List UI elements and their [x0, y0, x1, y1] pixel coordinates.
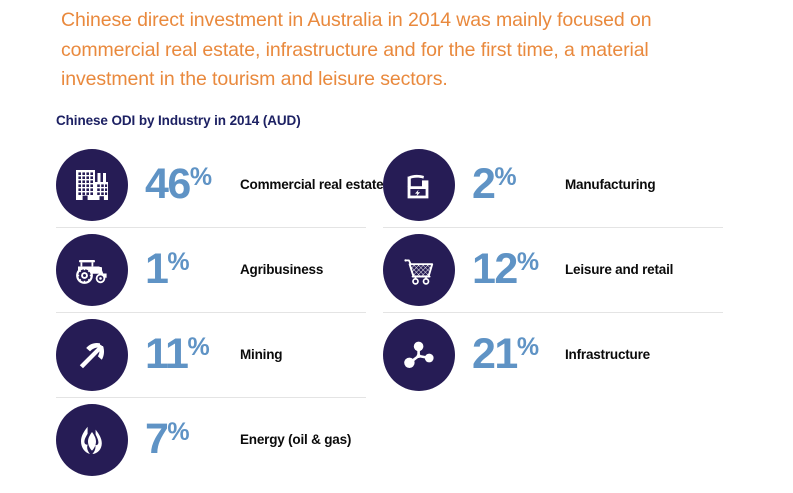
- list-item: 46 % Commercial real estate: [56, 142, 366, 227]
- industry-label-wrap: Agribusiness: [240, 261, 390, 279]
- list-item: 1 % Agribusiness: [56, 227, 366, 312]
- status-badge: 46 %: [145, 163, 212, 206]
- list-item: 11 % Mining: [56, 312, 366, 397]
- status-badge: 11 %: [145, 333, 209, 376]
- percent-number: 7: [145, 418, 167, 461]
- percent-number: 2: [472, 163, 494, 206]
- status-badge: 21 %: [472, 333, 539, 376]
- list-item: 21 % Infrastructure: [383, 312, 723, 397]
- status-badge: 2 %: [472, 163, 516, 206]
- percent-number: 1: [145, 248, 167, 291]
- pickaxe-icon: [56, 319, 128, 391]
- percent-value-wrap: 11 %: [136, 319, 209, 391]
- percent-sign: %: [167, 248, 189, 275]
- industry-label-wrap: Infrastructure: [565, 346, 725, 364]
- percent-value-wrap: 12 %: [463, 234, 539, 306]
- percent-number: 12: [472, 248, 517, 291]
- status-badge: 1 %: [145, 248, 189, 291]
- industry-label: Commercial real estate: [240, 176, 390, 194]
- industry-label: Manufacturing: [565, 176, 725, 194]
- percent-sign: %: [187, 333, 209, 360]
- flame-icon: [56, 404, 128, 476]
- shopping-cart-icon: [383, 234, 455, 306]
- percent-sign: %: [517, 333, 539, 360]
- percent-value-wrap: 7 %: [136, 404, 189, 476]
- percent-sign: %: [494, 163, 516, 190]
- percent-number: 21: [472, 333, 517, 376]
- percent-sign: %: [190, 163, 212, 190]
- percent-value-wrap: 46 %: [136, 149, 212, 221]
- office-buildings-icon: [56, 149, 128, 221]
- industry-column-left: 46 % Commercial real estate: [56, 142, 366, 482]
- percent-sign: %: [517, 248, 539, 275]
- network-nodes-icon: [383, 319, 455, 391]
- page-title: Chinese ODI by Industry in 2014 (AUD): [56, 113, 301, 128]
- infographic-page: Chinese direct investment in Australia i…: [0, 0, 793, 493]
- percent-number: 11: [145, 333, 187, 376]
- percent-value-wrap: 1 %: [136, 234, 189, 306]
- industry-label-wrap: Mining: [240, 346, 390, 364]
- industry-label: Energy (oil & gas): [240, 431, 390, 449]
- industry-label: Leisure and retail: [565, 261, 725, 279]
- list-item: 12 % Leisure and retail: [383, 227, 723, 312]
- percent-sign: %: [167, 418, 189, 445]
- industry-column-right: 2 % Manufacturing: [383, 142, 723, 397]
- list-item: 2 % Manufacturing: [383, 142, 723, 227]
- percent-value-wrap: 2 %: [463, 149, 516, 221]
- industry-label-wrap: Manufacturing: [565, 176, 725, 194]
- industry-label: Agribusiness: [240, 261, 390, 279]
- status-badge: 12 %: [472, 248, 539, 291]
- page-headline: Chinese direct investment in Australia i…: [61, 6, 721, 95]
- industry-label: Mining: [240, 346, 390, 364]
- factory-power-icon: [383, 149, 455, 221]
- status-badge: 7 %: [145, 418, 189, 461]
- tractor-icon: [56, 234, 128, 306]
- industry-label-wrap: Energy (oil & gas): [240, 431, 390, 449]
- list-item: 7 % Energy (oil & gas): [56, 397, 366, 482]
- industry-label-wrap: Leisure and retail: [565, 261, 725, 279]
- percent-number: 46: [145, 163, 190, 206]
- industry-label-wrap: Commercial real estate: [240, 176, 390, 194]
- percent-value-wrap: 21 %: [463, 319, 539, 391]
- industry-label: Infrastructure: [565, 346, 725, 364]
